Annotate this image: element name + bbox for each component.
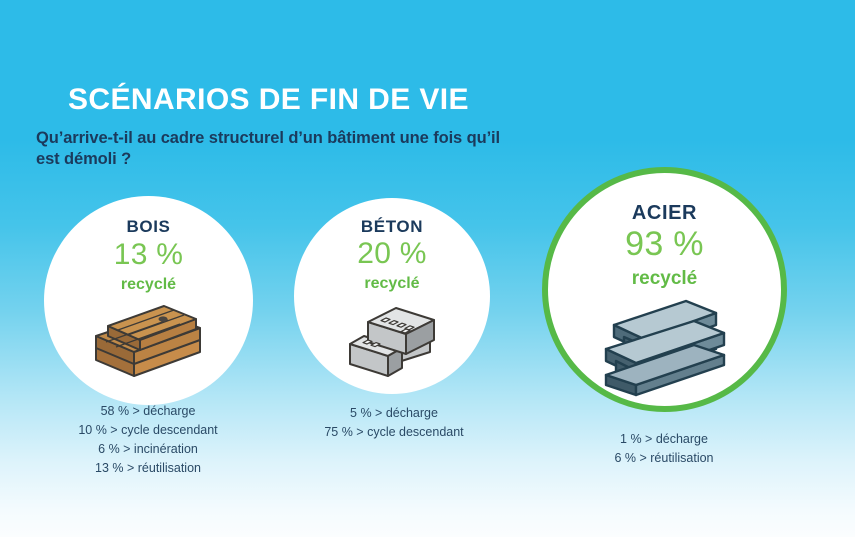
material-name-acier: ACIER bbox=[548, 203, 781, 223]
material-recycled-label-beton: recyclé bbox=[294, 276, 490, 292]
material-percent-beton: 20 % bbox=[294, 237, 490, 271]
list-item: 75 % > cycle descendant bbox=[296, 423, 492, 442]
circle-acier: ACIER 93 % recyclé bbox=[542, 167, 787, 412]
list-item: 5 % > décharge bbox=[296, 404, 492, 423]
fates-list-acier: 1 % > décharge 6 % > réutilisation bbox=[566, 430, 762, 468]
material-recycled-label-bois: recyclé bbox=[44, 277, 253, 293]
steel-beams-icon bbox=[548, 295, 781, 397]
page-title: SCÉNARIOS DE FIN DE VIE bbox=[68, 84, 538, 116]
material-percent-acier: 93 % bbox=[548, 225, 781, 263]
fates-list-bois: 58 % > décharge 10 % > cycle descendant … bbox=[48, 402, 248, 478]
list-item: 6 % > réutilisation bbox=[566, 449, 762, 468]
list-item: 1 % > décharge bbox=[566, 430, 762, 449]
material-percent-bois: 13 % bbox=[44, 238, 253, 272]
infographic-canvas: SCÉNARIOS DE FIN DE VIE Qu’arrive-t-il a… bbox=[0, 0, 855, 537]
header: SCÉNARIOS DE FIN DE VIE Qu’arrive-t-il a… bbox=[68, 84, 538, 116]
material-name-bois: BOIS bbox=[44, 218, 253, 235]
circle-beton: BÉTON 20 % recyclé bbox=[294, 198, 490, 394]
list-item: 6 % > incinération bbox=[48, 440, 248, 459]
material-recycled-label-acier: recyclé bbox=[548, 269, 781, 288]
list-item: 13 % > réutilisation bbox=[48, 459, 248, 478]
page-subtitle: Qu’arrive-t-il au cadre structurel d’un … bbox=[36, 128, 506, 170]
list-item: 10 % > cycle descendant bbox=[48, 421, 248, 440]
material-name-beton: BÉTON bbox=[294, 218, 490, 235]
concrete-blocks-icon bbox=[294, 298, 490, 378]
list-item: 58 % > décharge bbox=[48, 402, 248, 421]
fates-list-beton: 5 % > décharge 75 % > cycle descendant bbox=[296, 404, 492, 442]
wood-planks-icon bbox=[44, 302, 253, 382]
circle-bois: BOIS 13 % recyclé bbox=[44, 196, 253, 405]
